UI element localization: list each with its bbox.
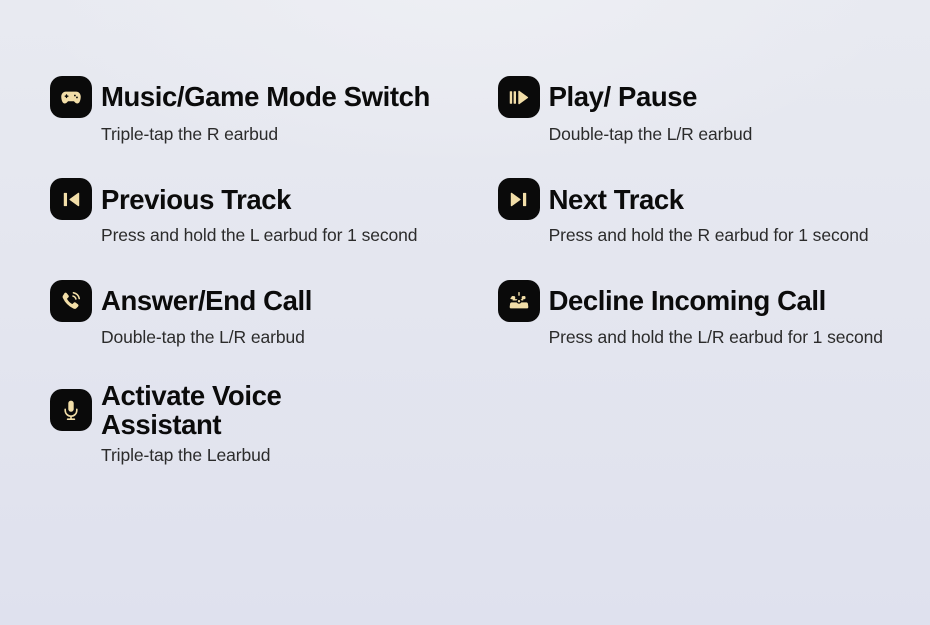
control-item-description: Double-tap the L/R earbud [101, 326, 498, 349]
control-item-title: Activate Voice Assistant [101, 381, 401, 440]
control-item-title: Play/ Pause [549, 82, 697, 111]
control-item-title: Music/Game Mode Switch [101, 82, 430, 111]
control-item-music-game-mode-switch: Music/Game Mode Switch Triple-tap the R … [50, 76, 498, 146]
controls-column-left: Music/Game Mode Switch Triple-tap the R … [50, 62, 498, 467]
control-item-header: Play/ Pause [498, 76, 908, 118]
control-item-decline-incoming-call: Decline Incoming Call Press and hold the… [498, 280, 908, 349]
control-item-description: Double-tap the L/R earbud [549, 123, 908, 146]
control-item-header: Activate Voice Assistant [50, 381, 498, 440]
control-item-title: Answer/End Call [101, 286, 312, 315]
control-item-previous-track: Previous Track Press and hold the L earb… [50, 178, 498, 247]
control-item-activate-voice-assistant: Activate Voice Assistant Triple-tap the … [50, 381, 498, 467]
control-item-header: Next Track [498, 178, 908, 220]
control-item-play-pause: Play/ Pause Double-tap the L/R earbud [498, 76, 908, 146]
control-item-header: Answer/End Call [50, 280, 498, 322]
rotary-telephone-icon [498, 280, 540, 322]
control-item-title: Next Track [549, 185, 684, 214]
gamepad-icon [50, 76, 92, 118]
controls-column-right: Play/ Pause Double-tap the L/R earbud Ne… [498, 62, 908, 349]
control-item-title: Previous Track [101, 185, 291, 214]
control-item-answer-end-call: Answer/End Call Double-tap the L/R earbu… [50, 280, 498, 349]
control-item-description: Triple-tap the Learbud [101, 444, 498, 467]
control-item-description: Press and hold the L/R earbud for 1 seco… [549, 326, 894, 349]
play-pause-icon [498, 76, 540, 118]
control-item-header: Decline Incoming Call [498, 280, 908, 322]
ringing-phone-icon [50, 280, 92, 322]
control-item-title: Decline Incoming Call [549, 286, 826, 315]
control-item-description: Press and hold the R earbud for 1 second [549, 224, 879, 247]
control-item-description: Triple-tap the R earbud [101, 123, 498, 146]
control-item-next-track: Next Track Press and hold the R earbud f… [498, 178, 908, 247]
microphone-icon [50, 389, 92, 431]
controls-columns: Music/Game Mode Switch Triple-tap the R … [50, 62, 908, 467]
control-item-description: Press and hold the L earbud for 1 second [101, 224, 491, 247]
previous-track-icon [50, 178, 92, 220]
control-item-header: Previous Track [50, 178, 498, 220]
control-item-header: Music/Game Mode Switch [50, 76, 498, 118]
next-track-icon [498, 178, 540, 220]
earbud-controls-board: Music/Game Mode Switch Triple-tap the R … [0, 0, 930, 625]
